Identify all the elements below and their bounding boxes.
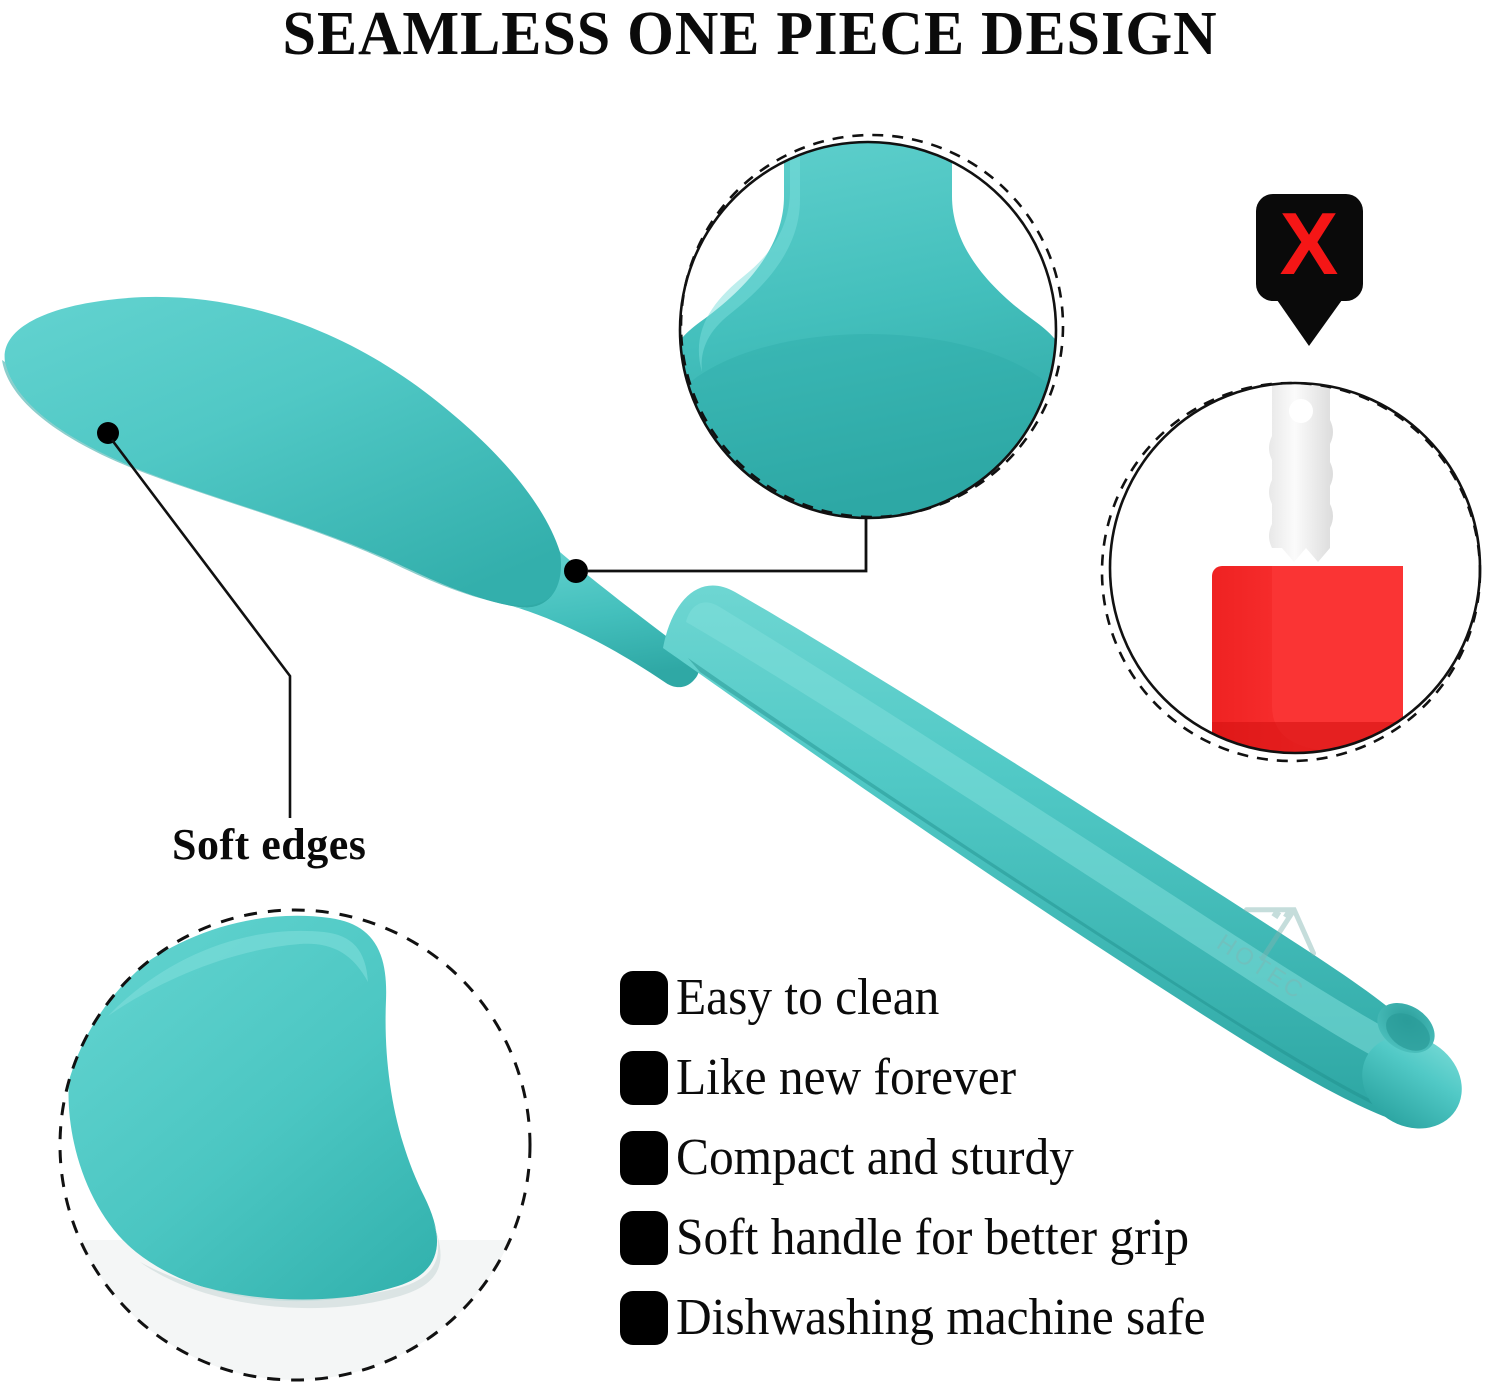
callout-dot-soft-edges xyxy=(97,422,119,444)
callout-dot-joint xyxy=(564,559,588,583)
inset-joint-bowl-shade xyxy=(663,334,1073,526)
feature-item: Easy to clean xyxy=(620,958,1400,1038)
feature-item: Like new forever xyxy=(620,1038,1400,1118)
spatula-head xyxy=(5,297,564,608)
inset-white-handle-hole xyxy=(1289,399,1313,423)
filled-rounded-square-bullet-icon xyxy=(620,1131,668,1185)
feature-item: Soft handle for better grip xyxy=(620,1198,1400,1278)
inset-seamless-joint xyxy=(663,120,1073,526)
filled-rounded-square-bullet-icon xyxy=(620,1051,668,1105)
feature-item: Compact and sturdy xyxy=(620,1118,1400,1198)
callout-leader-joint xyxy=(588,512,866,571)
filled-rounded-square-bullet-icon xyxy=(620,1291,668,1345)
infographic-canvas: SEAMLESS ONE PIECE DESIGN xyxy=(0,0,1500,1385)
inset-soft-edge xyxy=(60,910,530,1385)
filled-rounded-square-bullet-icon xyxy=(620,971,668,1025)
soft-edges-label: Soft edges xyxy=(172,820,366,870)
warning-x-symbol: X xyxy=(1280,194,1339,293)
warning-marker: X xyxy=(1256,194,1363,346)
feature-label: Compact and sturdy xyxy=(676,1130,1074,1186)
inset-two-piece xyxy=(1102,378,1484,761)
feature-label: Easy to clean xyxy=(676,970,939,1026)
feature-label: Like new forever xyxy=(676,1050,1016,1106)
feature-list: Easy to clean Like new forever Compact a… xyxy=(620,958,1400,1358)
feature-label: Dishwashing machine safe xyxy=(676,1290,1206,1346)
feature-label: Soft handle for better grip xyxy=(676,1210,1189,1266)
filled-rounded-square-bullet-icon xyxy=(620,1211,668,1265)
callout-seamless-joint xyxy=(564,512,866,583)
feature-item: Dishwashing machine safe xyxy=(620,1278,1400,1358)
warning-pointer-triangle xyxy=(1277,300,1342,346)
